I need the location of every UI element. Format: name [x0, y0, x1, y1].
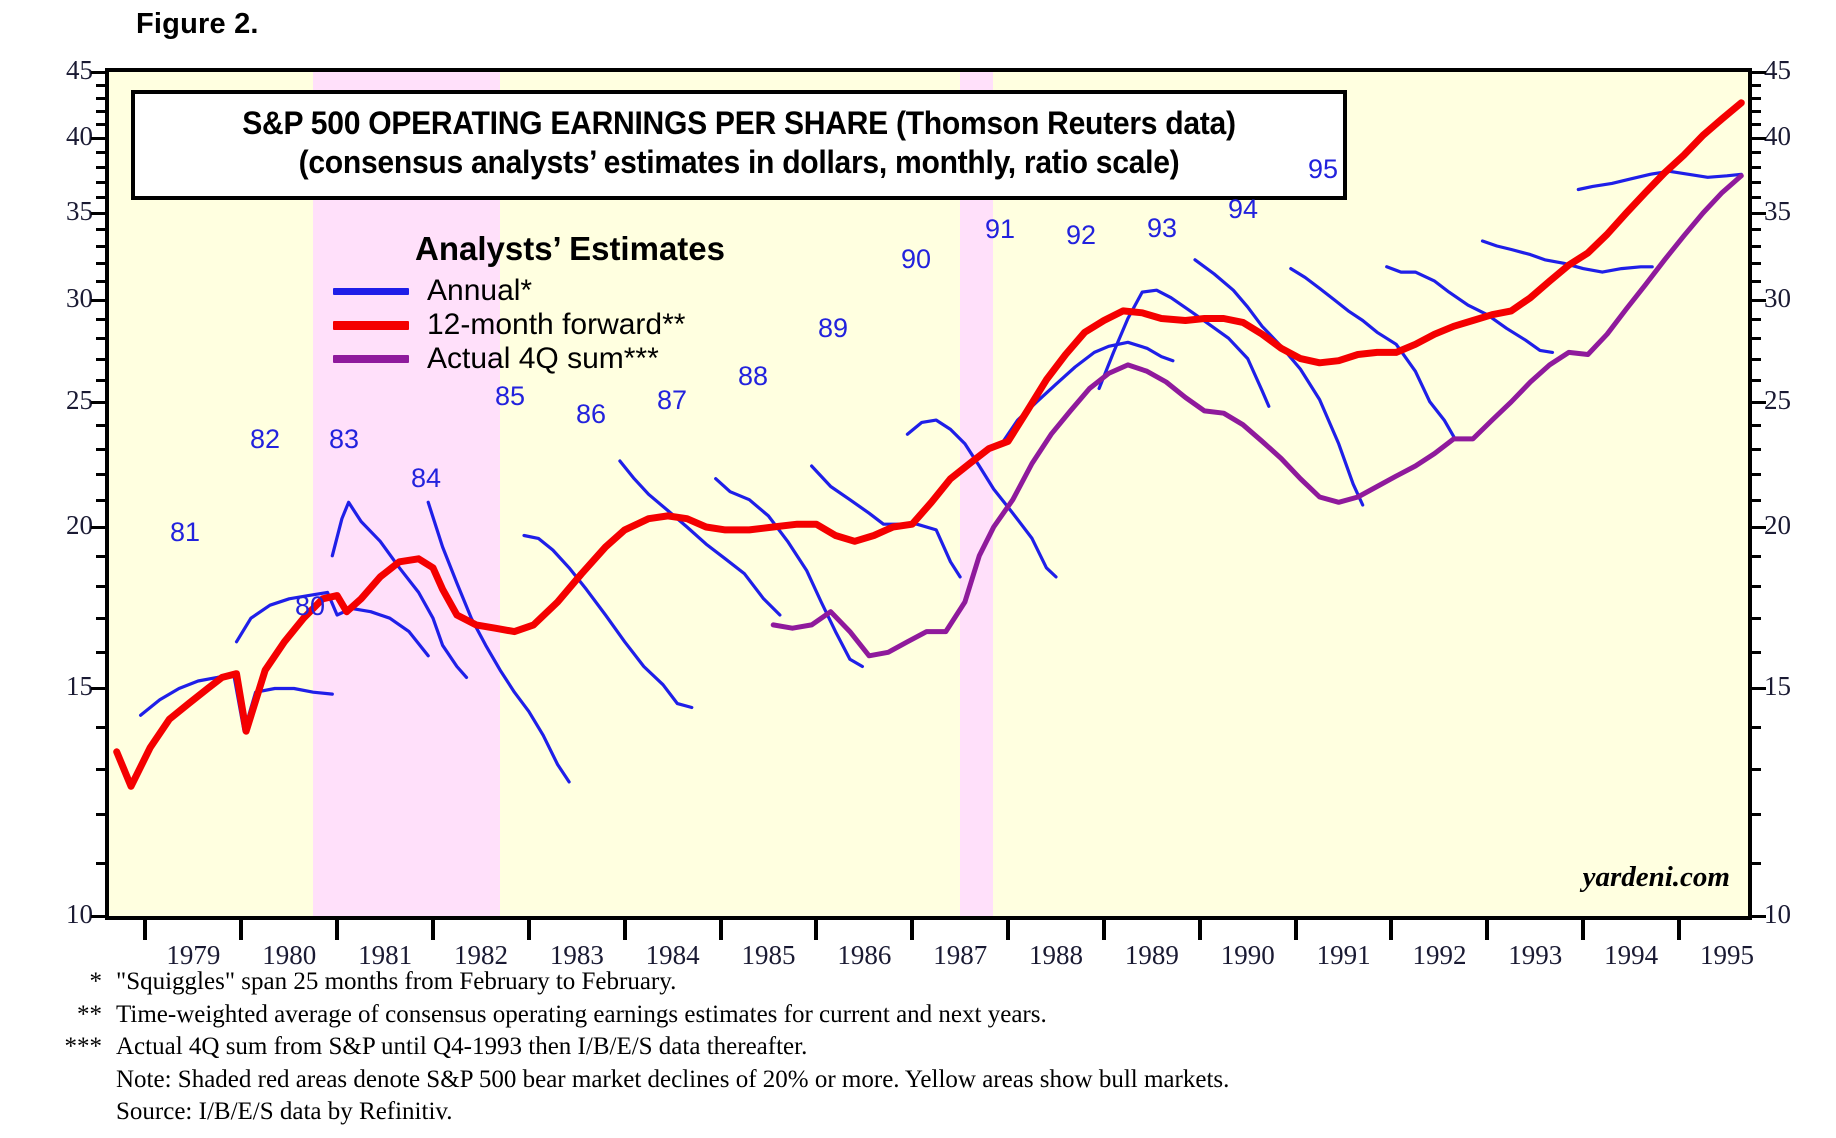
- y-axis-tick-left-30: [91, 299, 105, 302]
- y-axis-minor-tick: [96, 768, 105, 771]
- annual-squiggle-86: [716, 479, 863, 667]
- squiggle-label-94: 94: [1228, 194, 1258, 225]
- y-axis-minor-tick: [1752, 245, 1761, 248]
- x-axis-label-1992: 1992: [1384, 940, 1494, 971]
- footnote-marker-4: [38, 1096, 116, 1129]
- y-axis-tick-right-20: [1752, 526, 1766, 529]
- footnote-marker-2: ***: [38, 1031, 116, 1064]
- x-axis-tick-1986: [814, 920, 818, 940]
- y-axis-tick-left-20: [91, 526, 105, 529]
- annual-squiggle-81: [237, 592, 429, 655]
- x-axis-tick-1985: [719, 920, 723, 940]
- squiggle-label-85: 85: [495, 381, 525, 412]
- y-axis-minor-tick: [96, 358, 105, 361]
- footnotes: *"Squiggles" span 25 months from Februar…: [38, 966, 1229, 1129]
- x-axis-tick-1991: [1294, 920, 1298, 940]
- y-axis-minor-tick: [1752, 181, 1761, 184]
- footnote-text-4: Source: I/B/E/S data by Refinitiv.: [116, 1096, 453, 1129]
- footnote-3: Note: Shaded red areas denote S&P 500 be…: [38, 1064, 1229, 1097]
- data-curves: [109, 72, 1748, 916]
- annual-squiggle-85: [620, 461, 780, 615]
- squiggle-label-90: 90: [901, 244, 931, 275]
- y-axis-minor-tick: [1752, 379, 1761, 382]
- y-axis-tick-right-45: [1752, 71, 1766, 74]
- y-axis-minor-tick: [1752, 862, 1761, 865]
- x-axis-tick-1984: [623, 920, 627, 940]
- y-axis-minor-tick: [1752, 262, 1761, 265]
- chart-plot-area: S&P 500 OPERATING EARNINGS PER SHARE (Th…: [105, 68, 1752, 920]
- squiggle-label-81: 81: [170, 517, 200, 548]
- y-axis-minor-tick: [96, 151, 105, 154]
- x-axis-tick-1994: [1581, 920, 1585, 940]
- y-axis-minor-tick: [1752, 97, 1761, 100]
- y-axis-minor-tick: [1752, 448, 1761, 451]
- y-axis-minor-tick: [1752, 358, 1761, 361]
- y-axis-tick-right-35: [1752, 212, 1766, 215]
- squiggle-label-92: 92: [1066, 220, 1096, 251]
- x-axis-tick-1981: [335, 920, 339, 940]
- footnote-4: Source: I/B/E/S data by Refinitiv.: [38, 1096, 1229, 1129]
- y-axis-minor-tick: [1752, 318, 1761, 321]
- y-axis-label-left-45: 45: [47, 55, 93, 86]
- y-axis-label-left-20: 20: [47, 510, 93, 541]
- y-axis-minor-tick: [1752, 166, 1761, 169]
- x-axis-tick-1992: [1389, 920, 1393, 940]
- y-axis-minor-tick: [96, 448, 105, 451]
- y-axis-label-right-35: 35: [1764, 196, 1810, 227]
- squiggle-label-84: 84: [411, 463, 441, 494]
- x-axis-label-1993: 1993: [1480, 940, 1590, 971]
- squiggle-label-82: 82: [250, 424, 280, 455]
- y-axis-minor-tick: [96, 379, 105, 382]
- x-axis-tick-1989: [1102, 920, 1106, 940]
- figure-label: Figure 2.: [136, 8, 259, 41]
- annual-squiggle-93: [1387, 267, 1553, 353]
- y-axis-tick-right-10: [1752, 915, 1766, 918]
- y-axis-label-left-35: 35: [47, 196, 93, 227]
- y-axis-minor-tick: [96, 166, 105, 169]
- squiggle-label-89: 89: [818, 313, 848, 344]
- y-axis-minor-tick: [96, 585, 105, 588]
- footnote-text-2: Actual 4Q sum from S&P until Q4-1993 the…: [116, 1031, 807, 1064]
- y-axis-tick-left-45: [91, 71, 105, 74]
- y-axis-label-left-25: 25: [47, 385, 93, 416]
- y-axis-tick-left-10: [91, 915, 105, 918]
- y-axis-minor-tick: [96, 110, 105, 113]
- y-axis-minor-tick: [96, 555, 105, 558]
- y-axis-tick-left-35: [91, 212, 105, 215]
- squiggle-label-83: 83: [329, 424, 359, 455]
- footnote-2: ***Actual 4Q sum from S&P until Q4-1993 …: [38, 1031, 1229, 1064]
- y-axis-minor-tick: [1752, 499, 1761, 502]
- y-axis-minor-tick: [1752, 84, 1761, 87]
- y-axis-minor-tick: [96, 262, 105, 265]
- y-axis-minor-tick: [96, 196, 105, 199]
- y-axis-tick-right-15: [1752, 687, 1766, 690]
- x-axis-label-1995: 1995: [1672, 940, 1782, 971]
- y-axis-tick-left-25: [91, 401, 105, 404]
- series-forward12: [117, 103, 1742, 787]
- footnote-marker-1: **: [38, 999, 116, 1032]
- squiggle-label-87: 87: [657, 385, 687, 416]
- y-axis-label-right-40: 40: [1764, 121, 1810, 152]
- y-axis-minor-tick: [96, 245, 105, 248]
- y-axis-minor-tick: [1752, 228, 1761, 231]
- x-axis-tick-1979: [143, 920, 147, 940]
- y-axis-minor-tick: [1752, 651, 1761, 654]
- squiggle-label-88: 88: [738, 361, 768, 392]
- y-axis-tick-left-15: [91, 687, 105, 690]
- y-axis-minor-tick: [1752, 555, 1761, 558]
- annual-squiggle-91: [1195, 260, 1363, 505]
- y-axis-tick-right-40: [1752, 137, 1766, 140]
- y-axis-minor-tick: [1752, 585, 1761, 588]
- annual-squiggle-84: [524, 536, 692, 708]
- y-axis-label-right-15: 15: [1764, 671, 1810, 702]
- y-axis-minor-tick: [96, 473, 105, 476]
- y-axis-minor-tick: [1752, 123, 1761, 126]
- y-axis-minor-tick: [1752, 424, 1761, 427]
- y-axis-tick-right-25: [1752, 401, 1766, 404]
- y-axis-label-left-30: 30: [47, 283, 93, 314]
- x-axis-tick-1982: [431, 920, 435, 940]
- y-axis-minor-tick: [96, 97, 105, 100]
- y-axis-minor-tick: [1752, 726, 1761, 729]
- y-axis-label-left-10: 10: [47, 899, 93, 930]
- y-axis-minor-tick: [1752, 151, 1761, 154]
- y-axis-label-right-25: 25: [1764, 385, 1810, 416]
- y-axis-minor-tick: [96, 181, 105, 184]
- y-axis-minor-tick: [1752, 196, 1761, 199]
- x-axis-tick-1980: [239, 920, 243, 940]
- y-axis-minor-tick: [1752, 813, 1761, 816]
- x-axis-label-1994: 1994: [1576, 940, 1686, 971]
- x-axis-tick-1995: [1677, 920, 1681, 940]
- y-axis-minor-tick: [1752, 768, 1761, 771]
- squiggle-label-91: 91: [985, 214, 1015, 245]
- squiggle-label-93: 93: [1147, 213, 1177, 244]
- y-axis-minor-tick: [96, 280, 105, 283]
- y-axis-minor-tick: [96, 337, 105, 340]
- y-axis-minor-tick: [96, 651, 105, 654]
- y-axis-minor-tick: [96, 617, 105, 620]
- x-axis-tick-1988: [1006, 920, 1010, 940]
- footnote-1: **Time-weighted average of consensus ope…: [38, 999, 1229, 1032]
- y-axis-minor-tick: [1752, 617, 1761, 620]
- y-axis-minor-tick: [96, 228, 105, 231]
- y-axis-minor-tick: [1752, 473, 1761, 476]
- footnote-marker-0: *: [38, 966, 116, 999]
- y-axis-minor-tick: [96, 424, 105, 427]
- footnote-marker-3: [38, 1064, 116, 1097]
- y-axis-minor-tick: [96, 318, 105, 321]
- y-axis-minor-tick: [96, 499, 105, 502]
- y-axis-minor-tick: [96, 726, 105, 729]
- y-axis-minor-tick: [1752, 110, 1761, 113]
- y-axis-label-right-20: 20: [1764, 510, 1810, 541]
- footnote-text-3: Note: Shaded red areas denote S&P 500 be…: [116, 1064, 1229, 1097]
- footnote-text-1: Time-weighted average of consensus opera…: [116, 999, 1047, 1032]
- footnote-text-0: "Squiggles" span 25 months from February…: [116, 966, 676, 999]
- y-axis-label-right-30: 30: [1764, 283, 1810, 314]
- x-axis-tick-1987: [910, 920, 914, 940]
- squiggle-label-95: 95: [1308, 154, 1338, 185]
- x-axis-label-1991: 1991: [1289, 940, 1399, 971]
- squiggle-label-80: 80: [295, 591, 325, 622]
- y-axis-minor-tick: [96, 84, 105, 87]
- y-axis-minor-tick: [1752, 280, 1761, 283]
- y-axis-minor-tick: [96, 123, 105, 126]
- y-axis-minor-tick: [96, 813, 105, 816]
- y-axis-minor-tick: [1752, 337, 1761, 340]
- watermark: yardeni.com: [1583, 861, 1730, 894]
- annual-squiggle-87: [812, 466, 961, 577]
- squiggle-label-86: 86: [576, 399, 606, 430]
- y-axis-tick-right-30: [1752, 299, 1766, 302]
- x-axis-tick-1983: [527, 920, 531, 940]
- y-axis-label-right-10: 10: [1764, 899, 1810, 930]
- x-axis-tick-1993: [1485, 920, 1489, 940]
- y-axis-minor-tick: [96, 862, 105, 865]
- footnote-0: *"Squiggles" span 25 months from Februar…: [38, 966, 1229, 999]
- x-axis-tick-1990: [1198, 920, 1202, 940]
- y-axis-label-left-40: 40: [47, 121, 93, 152]
- y-axis-label-right-45: 45: [1764, 55, 1810, 86]
- y-axis-tick-left-40: [91, 137, 105, 140]
- y-axis-label-left-15: 15: [47, 671, 93, 702]
